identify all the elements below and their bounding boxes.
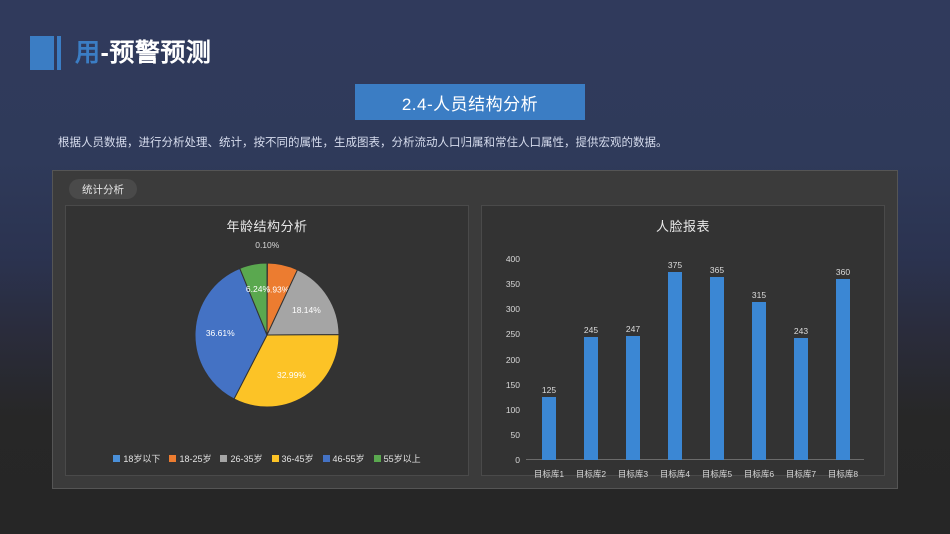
y-axis-tick-label: 50 — [486, 430, 520, 440]
pie-legend-label: 18岁以下 — [123, 452, 160, 465]
pie-chart-card: 年龄结构分析 0.10%6.93%18.14%32.99%36.61%6.24%… — [65, 205, 469, 476]
tab-label: 统计分析 — [82, 182, 124, 197]
tab-bar: 统计分析 — [53, 171, 897, 203]
section-description: 根据人员数据，进行分析处理、统计，按不同的属性，生成图表，分析流动人口归属和常住… — [58, 135, 898, 152]
bar-rect[interactable] — [584, 337, 598, 460]
page-header: 用-预警预测 — [30, 36, 211, 70]
dashboard-panel: 统计分析 年龄结构分析 0.10%6.93%18.14%32.99%36.61%… — [52, 170, 898, 489]
y-axis-tick-label: 100 — [486, 405, 520, 415]
bar-column[interactable]: 360 — [822, 259, 864, 460]
bar-column[interactable]: 365 — [696, 259, 738, 460]
legend-swatch-icon — [323, 455, 330, 462]
bar-rect[interactable] — [626, 336, 640, 460]
pie-legend-item[interactable]: 18-25岁 — [169, 452, 211, 465]
pie-svg: 0.10%6.93%18.14%32.99%36.61%6.24% — [102, 235, 432, 425]
y-axis-tick-label: 400 — [486, 254, 520, 264]
bar-column[interactable]: 243 — [780, 259, 822, 460]
bar-value-label: 375 — [668, 260, 682, 270]
y-axis-tick-label: 350 — [486, 279, 520, 289]
bar-rect[interactable] — [794, 338, 808, 460]
y-axis-tick-label: 250 — [486, 329, 520, 339]
pie-slice-label: 18.14% — [292, 305, 321, 315]
bar-value-label: 315 — [752, 290, 766, 300]
legend-swatch-icon — [113, 455, 120, 462]
y-axis-tick-label: 300 — [486, 304, 520, 314]
x-axis-tick-label: 目标库4 — [654, 468, 696, 480]
bar-rect[interactable] — [668, 272, 682, 460]
x-axis-tick-label: 目标库8 — [822, 468, 864, 480]
pie-slice-label: 36.61% — [206, 328, 235, 338]
logo-block — [30, 36, 54, 70]
pie-chart-plot: 0.10%6.93%18.14%32.99%36.61%6.24% — [66, 235, 468, 425]
tab-statistical-analysis[interactable]: 统计分析 — [69, 179, 137, 199]
pie-legend-label: 26-35岁 — [230, 452, 262, 465]
bar-value-label: 360 — [836, 267, 850, 277]
bar-value-label: 365 — [710, 265, 724, 275]
pie-legend-item[interactable]: 36-45岁 — [272, 452, 314, 465]
page-title: 用-预警预测 — [75, 41, 211, 66]
pie-legend-label: 36-45岁 — [282, 452, 314, 465]
y-axis-tick-label: 200 — [486, 355, 520, 365]
bars: 125245247375365315243360 — [528, 259, 864, 460]
section-badge: 2.4-人员结构分析 — [355, 84, 585, 120]
header-logo-mark — [30, 36, 61, 70]
x-axis-tick-label: 目标库7 — [780, 468, 822, 480]
page-title-rest: -预警预测 — [101, 39, 212, 67]
pie-legend: 18岁以下18-25岁26-35岁36-45岁46-55岁55岁以上 — [66, 452, 468, 465]
bars-container: 125245247375365315243360 — [528, 259, 864, 460]
pie-slice-label: 32.99% — [277, 370, 306, 380]
legend-swatch-icon — [220, 455, 227, 462]
bar-value-label: 247 — [626, 324, 640, 334]
bar-rect[interactable] — [752, 302, 766, 460]
bar-column[interactable]: 247 — [612, 259, 654, 460]
x-axis-labels: 目标库1目标库2目标库3目标库4目标库5目标库6目标库7目标库8 — [528, 468, 864, 480]
pie-legend-item[interactable]: 18岁以下 — [113, 452, 160, 465]
bar-column[interactable]: 315 — [738, 259, 780, 460]
bar-column[interactable]: 245 — [570, 259, 612, 460]
y-axis: 050100150200250300350400 — [492, 259, 526, 460]
pie-legend-item[interactable]: 46-55岁 — [323, 452, 365, 465]
legend-swatch-icon — [272, 455, 279, 462]
pie-legend-label: 55岁以上 — [384, 452, 421, 465]
x-axis-tick-label: 目标库5 — [696, 468, 738, 480]
bar-column[interactable]: 375 — [654, 259, 696, 460]
pie-chart-title: 年龄结构分析 — [66, 206, 468, 235]
bar-column[interactable]: 125 — [528, 259, 570, 460]
x-axis-tick-label: 目标库1 — [528, 468, 570, 480]
x-axis-tick-label: 目标库2 — [570, 468, 612, 480]
bar-value-label: 245 — [584, 325, 598, 335]
legend-swatch-icon — [169, 455, 176, 462]
y-axis-tick-label: 150 — [486, 380, 520, 390]
x-axis-tick-label: 目标库6 — [738, 468, 780, 480]
bar-rect[interactable] — [836, 279, 850, 460]
bar-value-label: 243 — [794, 326, 808, 336]
charts-row: 年龄结构分析 0.10%6.93%18.14%32.99%36.61%6.24%… — [53, 203, 897, 488]
section-badge-label: 2.4-人员结构分析 — [402, 90, 538, 115]
pie-legend-label: 18-25岁 — [179, 452, 211, 465]
pie-slice-label: 0.10% — [255, 240, 280, 250]
bar-value-label: 125 — [542, 385, 556, 395]
pie-slice-label: 6.24% — [246, 284, 271, 294]
x-axis-tick-label: 目标库3 — [612, 468, 654, 480]
bar-chart-plot: 050100150200250300350400 125245247375365… — [492, 241, 870, 486]
page-title-accent: 用 — [75, 39, 101, 67]
legend-swatch-icon — [374, 455, 381, 462]
bar-chart-title: 人脸报表 — [482, 206, 884, 235]
bar-rect[interactable] — [542, 397, 556, 460]
bar-chart-card: 人脸报表 050100150200250300350400 1252452473… — [481, 205, 885, 476]
pie-legend-item[interactable]: 55岁以上 — [374, 452, 421, 465]
y-axis-tick-label: 0 — [486, 455, 520, 465]
pie-legend-item[interactable]: 26-35岁 — [220, 452, 262, 465]
logo-bar — [57, 36, 61, 70]
pie-legend-label: 46-55岁 — [333, 452, 365, 465]
bar-rect[interactable] — [710, 277, 724, 460]
